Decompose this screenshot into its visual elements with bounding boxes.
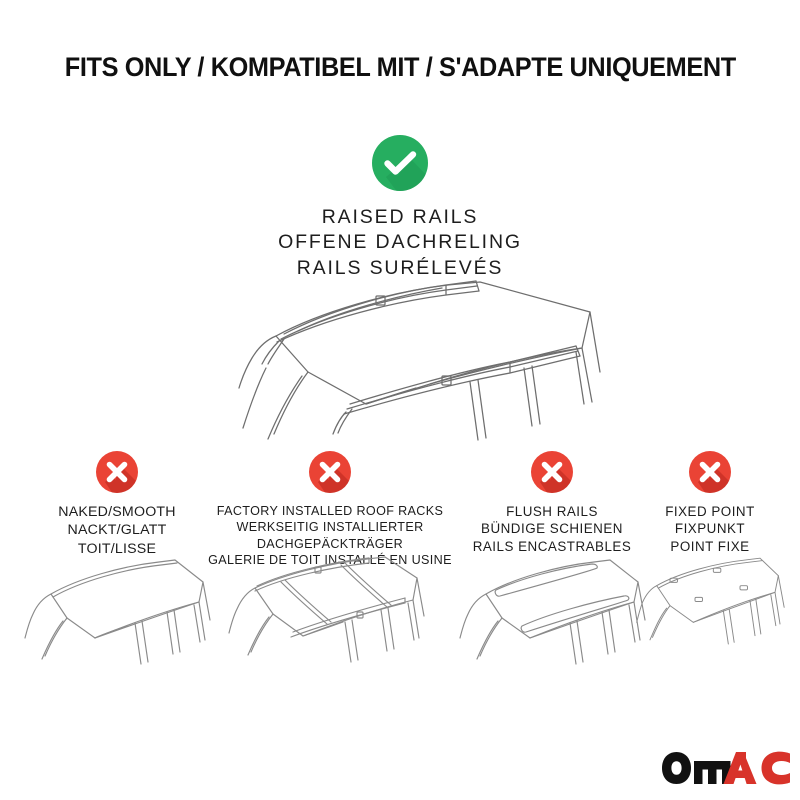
compatible-section: RAISED RAILS OFFENE DACHRELING RAILS SUR… xyxy=(0,133,800,281)
incompatible-label-de-2: DACHGEPÄCKTRÄGER xyxy=(205,536,455,552)
logo-letter-c xyxy=(762,752,791,785)
incompatible-label-en: FACTORY INSTALLED ROOF RACKS xyxy=(205,503,455,519)
car-roof-with-flush-rails-illustration xyxy=(452,554,652,689)
incompatible-label-fr: RAILS ENCASTRABLES xyxy=(452,538,652,555)
incompatible-label-de: BÜNDIGE SCHIENEN xyxy=(452,520,652,537)
logo-letter-o xyxy=(662,752,691,784)
check-circle-icon xyxy=(370,133,430,193)
compatible-labels: RAISED RAILS OFFENE DACHRELING RAILS SUR… xyxy=(0,205,800,281)
incompatible-option-fixed-point: FIXED POINT FIXPUNKT POINT FIXE xyxy=(635,450,785,555)
incompatible-label-de: FIXPUNKT xyxy=(635,520,785,537)
car-roof-naked-smooth-illustration xyxy=(17,554,217,689)
omac-logo xyxy=(660,748,792,788)
incompatible-option-flush-rails: FLUSH RAILS BÜNDIGE SCHIENEN RAILS ENCAS… xyxy=(452,450,652,555)
incompatible-labels: NAKED/SMOOTH NACKT/GLATT TOIT/LISSE xyxy=(17,503,217,558)
incompatible-label-en: NAKED/SMOOTH xyxy=(17,503,217,521)
x-circle-icon xyxy=(530,450,574,494)
car-roof-with-fixed-points-illustration xyxy=(635,554,785,689)
incompatible-option-naked-smooth: NAKED/SMOOTH NACKT/GLATT TOIT/LISSE xyxy=(17,450,217,558)
incompatible-labels: FLUSH RAILS BÜNDIGE SCHIENEN RAILS ENCAS… xyxy=(452,503,652,555)
compatible-label-de: OFFENE DACHRELING xyxy=(0,230,800,255)
compatible-label-en: RAISED RAILS xyxy=(0,205,800,230)
incompatible-label-en: FIXED POINT xyxy=(635,503,785,520)
car-roof-with-raised-rails-illustration xyxy=(180,276,620,466)
car-roof-with-factory-crossbars-illustration xyxy=(205,554,455,689)
incompatible-labels: FIXED POINT FIXPUNKT POINT FIXE xyxy=(635,503,785,555)
incompatible-label-en: FLUSH RAILS xyxy=(452,503,652,520)
x-circle-icon xyxy=(308,450,352,494)
incompatible-label-de-1: WERKSEITIG INSTALLIERTER xyxy=(205,519,455,535)
x-circle-icon xyxy=(688,450,732,494)
page-title-text: FITS ONLY / KOMPATIBEL MIT / S'ADAPTE UN… xyxy=(64,52,735,83)
incompatible-label-fr: POINT FIXE xyxy=(635,538,785,555)
incompatible-label-de: NACKT/GLATT xyxy=(17,521,217,539)
incompatible-option-factory-racks: FACTORY INSTALLED ROOF RACKS WERKSEITIG … xyxy=(205,450,455,568)
page-title: FITS ONLY / KOMPATIBEL MIT / S'ADAPTE UN… xyxy=(0,52,800,83)
x-circle-icon xyxy=(95,450,139,494)
